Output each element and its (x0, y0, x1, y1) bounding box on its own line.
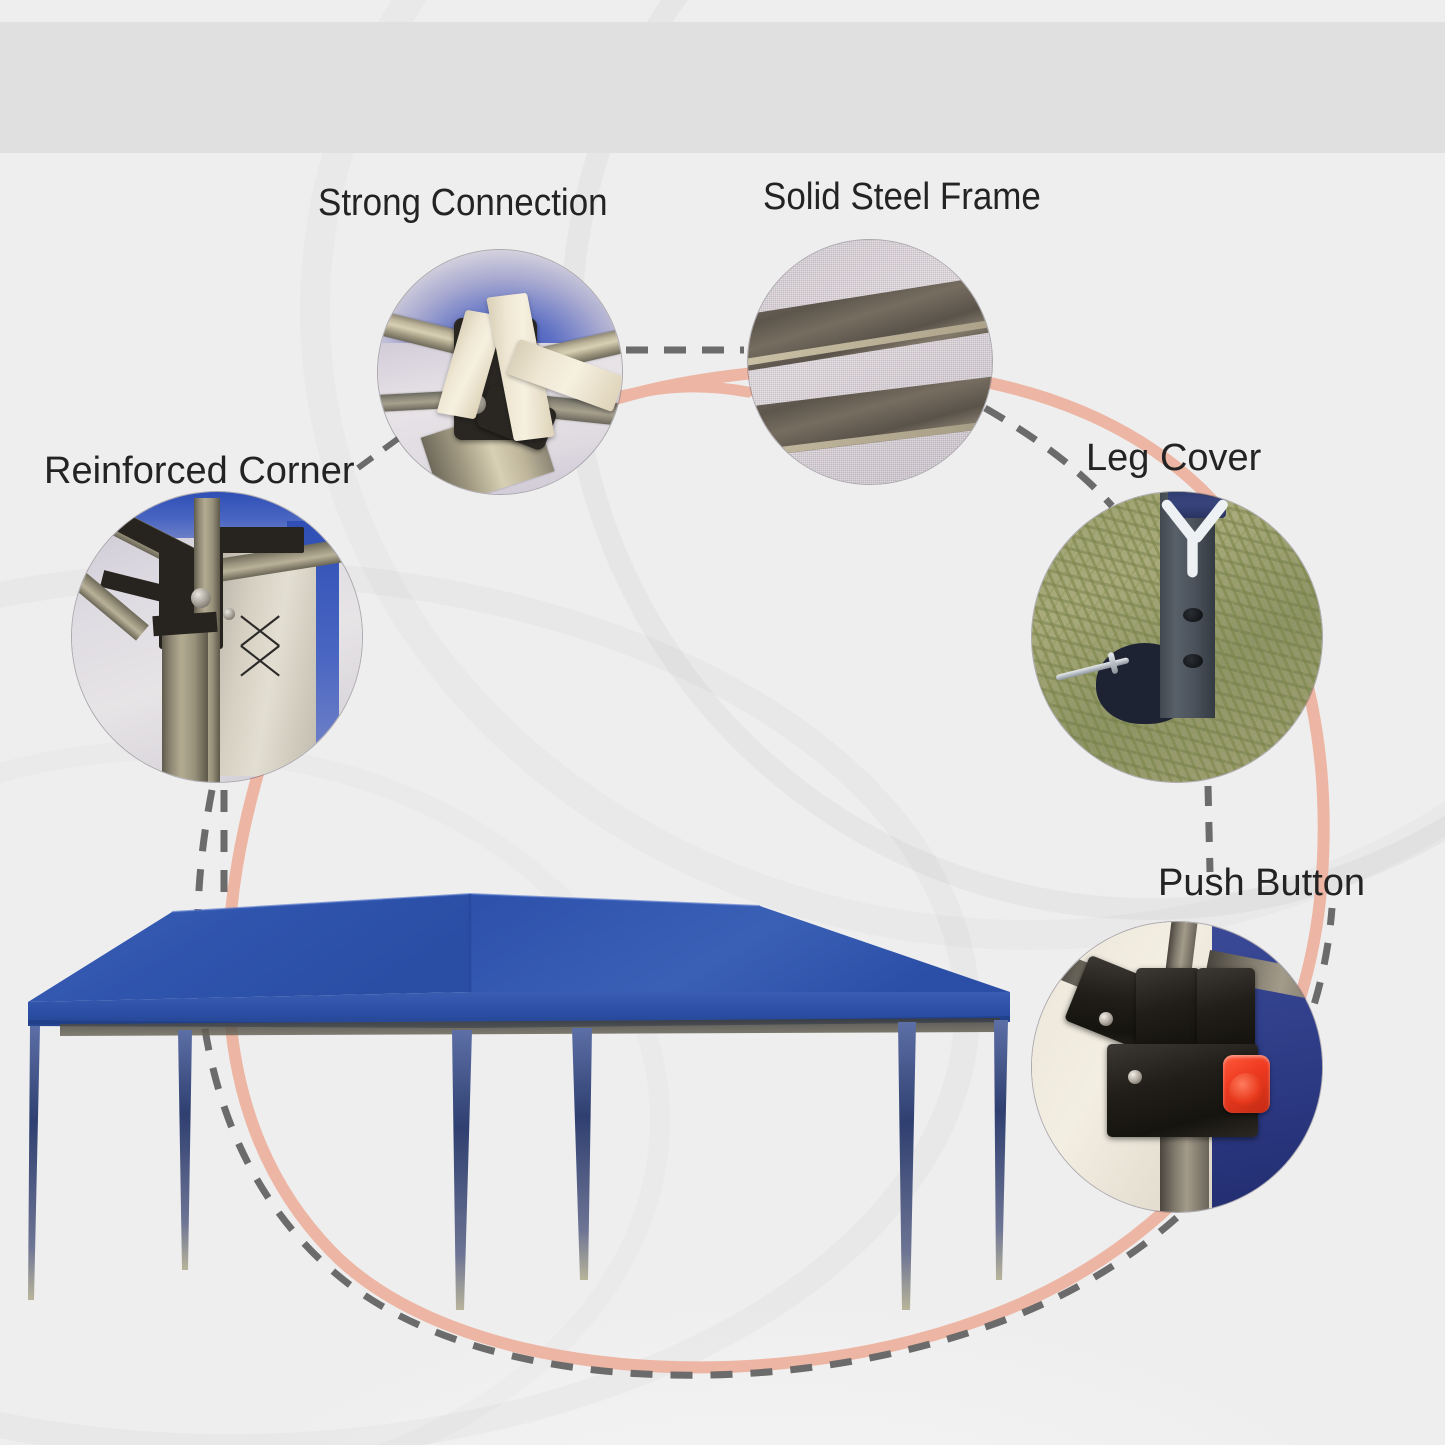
gazebo-leg (28, 1026, 40, 1300)
connector-screw (1128, 1070, 1142, 1084)
bracket-screw (191, 588, 211, 608)
bracket (211, 527, 304, 553)
steel-bars-photo (748, 240, 992, 484)
y-clip-icon (1160, 498, 1230, 579)
leg-post-grass-photo (1032, 492, 1322, 782)
connector-screw (1099, 1012, 1113, 1026)
salmon-link-top (608, 387, 748, 399)
detail-label-solid-steel-frame: Solid Steel Frame (763, 176, 1041, 219)
hub-joint-photo (378, 250, 622, 494)
product-image-gazebo (0, 880, 1060, 1320)
detail-circle-strong-connection (378, 250, 622, 494)
leg-hole (1183, 608, 1203, 622)
bracket-screw (223, 608, 235, 620)
canopy-roof-right (470, 894, 1010, 992)
red-push-button-photo (1032, 922, 1322, 1212)
detail-label-strong-connection: Strong Connection (318, 182, 608, 225)
canopy-roof-left (28, 894, 470, 1002)
detail-circle-reinforced-corner (72, 492, 362, 782)
corner-bracket-photo (72, 492, 362, 782)
detail-circle-leg-cover (1032, 492, 1322, 782)
detail-label-push-button: Push Button (1158, 862, 1365, 905)
gray-dashed-link-pushbutton (1208, 786, 1210, 872)
header-band (0, 22, 1445, 153)
gazebo-leg-cover (162, 623, 208, 783)
gazebo-leg (452, 1030, 472, 1310)
detail-label-leg-cover: Leg Cover (1086, 437, 1261, 480)
infographic-canvas: PRODUCT DETAILS Strong Connection (0, 0, 1445, 1445)
detail-circle-push-button (1032, 922, 1322, 1212)
gazebo-leg (572, 1028, 592, 1280)
bracket-arm (153, 612, 218, 637)
red-button-knob (1229, 1073, 1264, 1108)
gazebo-leg (994, 1020, 1008, 1280)
gazebo-leg (898, 1022, 916, 1310)
gazebo-leg (178, 1030, 192, 1270)
detail-circle-solid-steel-frame (748, 240, 992, 484)
detail-label-reinforced-corner: Reinforced Corner (44, 450, 354, 493)
fabric-stitching (234, 614, 286, 678)
